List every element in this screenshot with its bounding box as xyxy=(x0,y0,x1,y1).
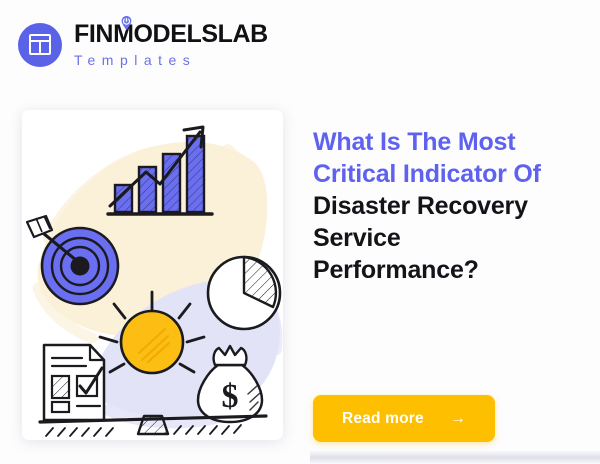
page-bottom-edge xyxy=(310,450,600,464)
headline-block: What Is The Most Critical Indicator Of D… xyxy=(313,126,581,286)
brand-header: FINMODELSLAB Templates xyxy=(18,22,268,67)
page-title: What Is The Most Critical Indicator Of D… xyxy=(313,126,581,286)
brand-title-text: FINMODELSLAB xyxy=(74,20,268,48)
arrow-right-icon: → xyxy=(450,411,466,427)
headline-line-3: Disaster Recovery xyxy=(313,190,581,222)
location-pin-icon xyxy=(121,16,132,30)
headline-line-1: What Is The Most xyxy=(313,126,581,158)
promo-page: FINMODELSLAB Templates xyxy=(0,0,600,464)
pie-chart xyxy=(208,257,280,329)
headline-line-2: Critical Indicator Of xyxy=(313,158,581,190)
headline-line-5: Performance? xyxy=(313,254,581,286)
illustration-card: $ xyxy=(22,110,283,440)
grid-table-icon xyxy=(29,34,51,55)
headline-line-4: Service xyxy=(313,222,581,254)
logo-mark xyxy=(18,23,62,67)
business-analytics-illustration: $ xyxy=(22,110,283,440)
money-bag-symbol: $ xyxy=(222,378,239,415)
brand-subtitle: Templates xyxy=(74,53,268,67)
brand-title: FINMODELSLAB xyxy=(74,22,268,47)
read-more-button[interactable]: Read more → xyxy=(313,395,495,442)
brand-wordmark: FINMODELSLAB Templates xyxy=(74,22,268,67)
document-with-checkbox xyxy=(44,345,104,420)
read-more-label: Read more xyxy=(342,410,424,428)
